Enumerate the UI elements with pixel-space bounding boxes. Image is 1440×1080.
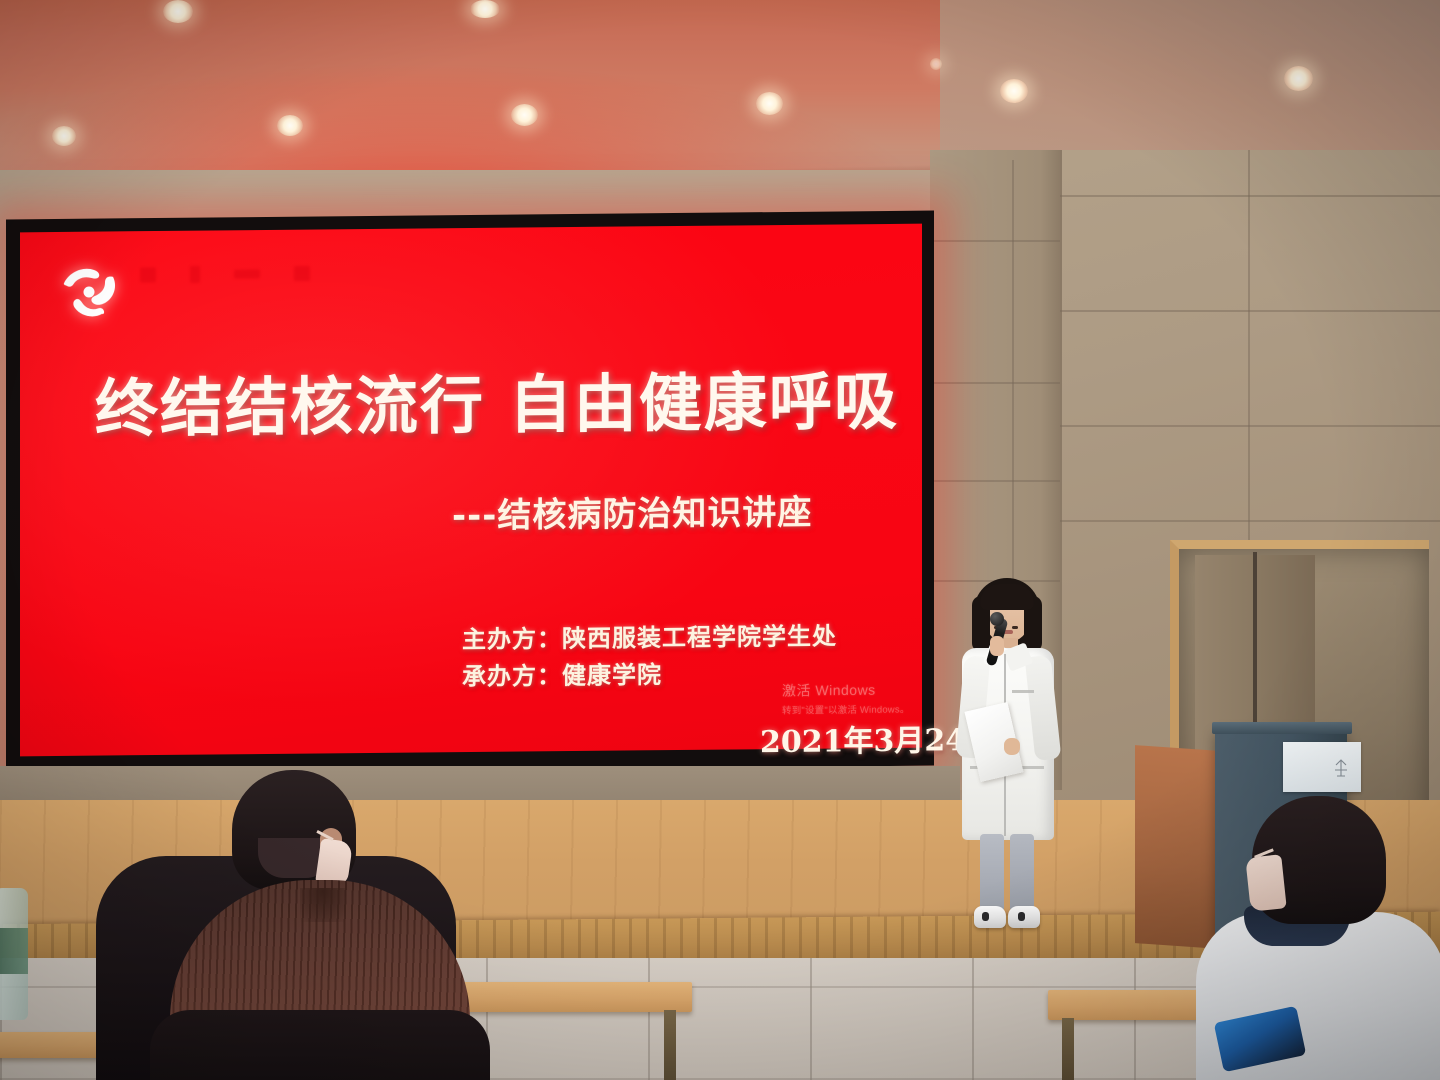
ghost-icon: [140, 267, 156, 282]
organizer-line: 主办方：陕西服装工程学院学生处: [462, 618, 837, 659]
watermark-line-2: 转到"设置"以激活 Windows。: [782, 701, 910, 716]
presenter-leg-left: [980, 834, 1004, 912]
downlight-icon: [511, 104, 538, 126]
bench: [0, 1032, 110, 1058]
downlight-icon: [756, 92, 783, 115]
lecture-hall-photo: 终结结核流行 自由健康呼吸 ---结核病防治知识讲座 主办方：陕西服装工程学院学…: [0, 0, 1440, 1080]
presenter-hand-holding-papers: [1004, 738, 1020, 755]
panel-seam: [1060, 195, 1440, 197]
downlight-icon: [1000, 79, 1028, 103]
presenter-leg-right: [1010, 834, 1034, 912]
downlight-icon: [277, 115, 303, 136]
panel-seam: [930, 240, 1060, 242]
presenter-bangs: [980, 584, 1034, 610]
panel-seam: [1060, 520, 1440, 522]
water-bottle-label: [0, 928, 28, 974]
microphone-head-icon: [990, 612, 1004, 626]
podium-side-panel: [1135, 745, 1219, 949]
eye: [1012, 626, 1018, 629]
panel-seam: [930, 382, 1060, 384]
audience-member-center-hair-part: [300, 888, 346, 922]
shoe-pattern: [982, 912, 989, 921]
panel-seam: [1248, 150, 1250, 550]
audience-member-center-shoulders: [150, 1010, 490, 1080]
host-line: 承办方：健康学院: [462, 655, 837, 696]
slide-main-title: 终结结核流行 自由健康呼吸: [95, 370, 875, 440]
slide-subtitle: ---结核病防治知识讲座: [452, 495, 922, 534]
bench-leg: [664, 1010, 676, 1080]
ghost-icon: [234, 269, 260, 278]
ghost-icon: [190, 265, 200, 282]
downlight-icon: [470, 0, 500, 18]
panel-seam: [930, 480, 1060, 482]
presenter-hand-holding-mic: [990, 636, 1004, 656]
podium-top-surface: [1212, 722, 1352, 734]
coat-chest-pocket: [1012, 690, 1034, 693]
face-mask-icon: [1245, 854, 1286, 911]
windows-activation-watermark: 激活 Windows 转到"设置"以激活 Windows。: [782, 679, 910, 716]
presenter-shoe-left: [974, 906, 1006, 928]
ghost-icon: [294, 265, 310, 280]
panel-seam: [1060, 310, 1440, 312]
downlight-icon: [52, 126, 76, 146]
shoe-pattern: [1018, 912, 1025, 921]
watermark-line-1: 激活 Windows: [782, 679, 910, 700]
downlight-icon: [1284, 66, 1313, 91]
podium-emblem-icon: [1332, 758, 1350, 778]
swirl-ribbon-logo: [56, 261, 122, 324]
powerpoint-toolbar-ghost: [140, 256, 460, 289]
panel-seam: [1060, 425, 1440, 427]
slide-organizer-block: 主办方：陕西服装工程学院学生处 承办方：健康学院: [462, 618, 837, 696]
presenter: [950, 578, 1070, 946]
downlight-icon: [163, 0, 193, 23]
downlight-icon: [930, 58, 942, 70]
bench-leg: [1062, 1018, 1074, 1080]
